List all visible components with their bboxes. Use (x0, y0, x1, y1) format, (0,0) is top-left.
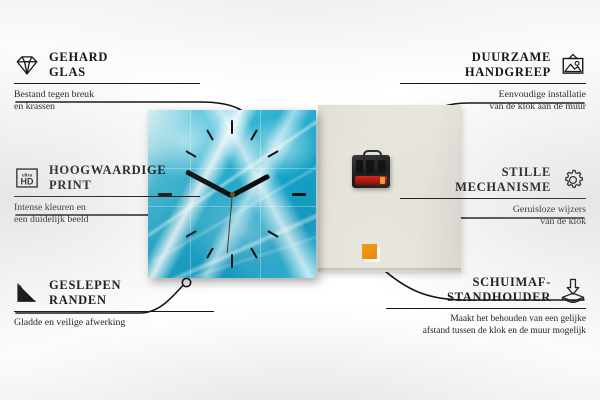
clock-tick-12 (231, 120, 233, 134)
polished-edge-icon (14, 280, 40, 306)
feature-title-line2: STANDHOUDER (447, 290, 551, 305)
feature-geslepen-randen: GESLEPEN RANDEN Gladde en veilige afwerk… (14, 278, 214, 329)
feature-title-line1: HOOGWAARDIGE (49, 163, 166, 178)
feature-desc-line1: Eenvoudige installatie (400, 89, 586, 101)
feature-title-line1: DUURZAME (465, 50, 551, 65)
clock-center-cap (230, 192, 235, 197)
feature-stille-mechanisme: STILLE MECHANISME Geruisloze wijzers van… (400, 165, 586, 228)
feature-gehard-glas: GEHARD GLAS Bestand tegen breuk en krass… (14, 50, 200, 113)
feature-title-line2: GLAS (49, 65, 108, 80)
feature-title-line2: PRINT (49, 178, 166, 193)
feature-desc-line1: Maakt het behouden van een gelijke (386, 314, 586, 326)
feature-desc-line2: van de klok aan de muur (400, 101, 586, 113)
infographic-canvas: GEHARD GLAS Bestand tegen breuk en krass… (0, 0, 600, 400)
clock-tick-3 (292, 193, 306, 196)
clock-mechanism (352, 155, 390, 188)
diamond-icon (14, 52, 40, 78)
feature-desc-line2: en krassen (14, 101, 200, 113)
ultra-hd-icon-big-label: HD (21, 176, 34, 186)
feature-divider (14, 83, 200, 84)
feature-title-line2: MECHANISME (455, 180, 551, 195)
feature-desc-line2: van de klok (400, 216, 586, 228)
feature-divider (14, 311, 214, 312)
feature-title-line2: HANDGREEP (465, 65, 551, 80)
feature-divider (14, 196, 200, 197)
feature-schuimafstandhouder: SCHUIMAF- STANDHOUDER Maakt het behouden… (386, 275, 586, 338)
feature-desc-line1: Gladde en veilige afwerking (14, 317, 214, 329)
mechanism-vents (356, 160, 386, 173)
clock-tick-6 (231, 254, 233, 268)
feature-desc-line1: Bestand tegen breuk (14, 89, 200, 101)
feature-title-line2: RANDEN (49, 293, 121, 308)
feature-desc-line1: Intense kleuren en (14, 202, 200, 214)
feature-divider (386, 308, 586, 309)
feature-divider (400, 83, 586, 84)
hanging-hook (363, 150, 382, 160)
feature-title-line1: GESLEPEN (49, 278, 121, 293)
hanging-picture-icon (560, 52, 586, 78)
foam-spacer-icon (560, 277, 586, 303)
feature-desc-line2: een duidelijk beeld (14, 214, 200, 226)
gear-icon (560, 167, 586, 193)
battery (355, 176, 387, 185)
feature-desc-line2: afstand tussen de klok en de muur mogeli… (386, 326, 586, 338)
feature-title-line1: GEHARD (49, 50, 108, 65)
foam-spacer-pad (362, 244, 377, 259)
feature-divider (400, 198, 586, 199)
feature-duurzame-handgreep: DUURZAME HANDGREEP Eenvoudige installati… (400, 50, 586, 113)
feature-title-line1: SCHUIMAF- (447, 275, 551, 290)
feature-title-line1: STILLE (455, 165, 551, 180)
ultra-hd-icon: ultra HD (14, 165, 40, 191)
feature-desc-line1: Geruisloze wijzers (400, 204, 586, 216)
wall-panel-shadow (318, 268, 461, 274)
feature-hoogwaardige-print: ultra HD HOOGWAARDIGE PRINT Intense kleu… (14, 163, 200, 226)
